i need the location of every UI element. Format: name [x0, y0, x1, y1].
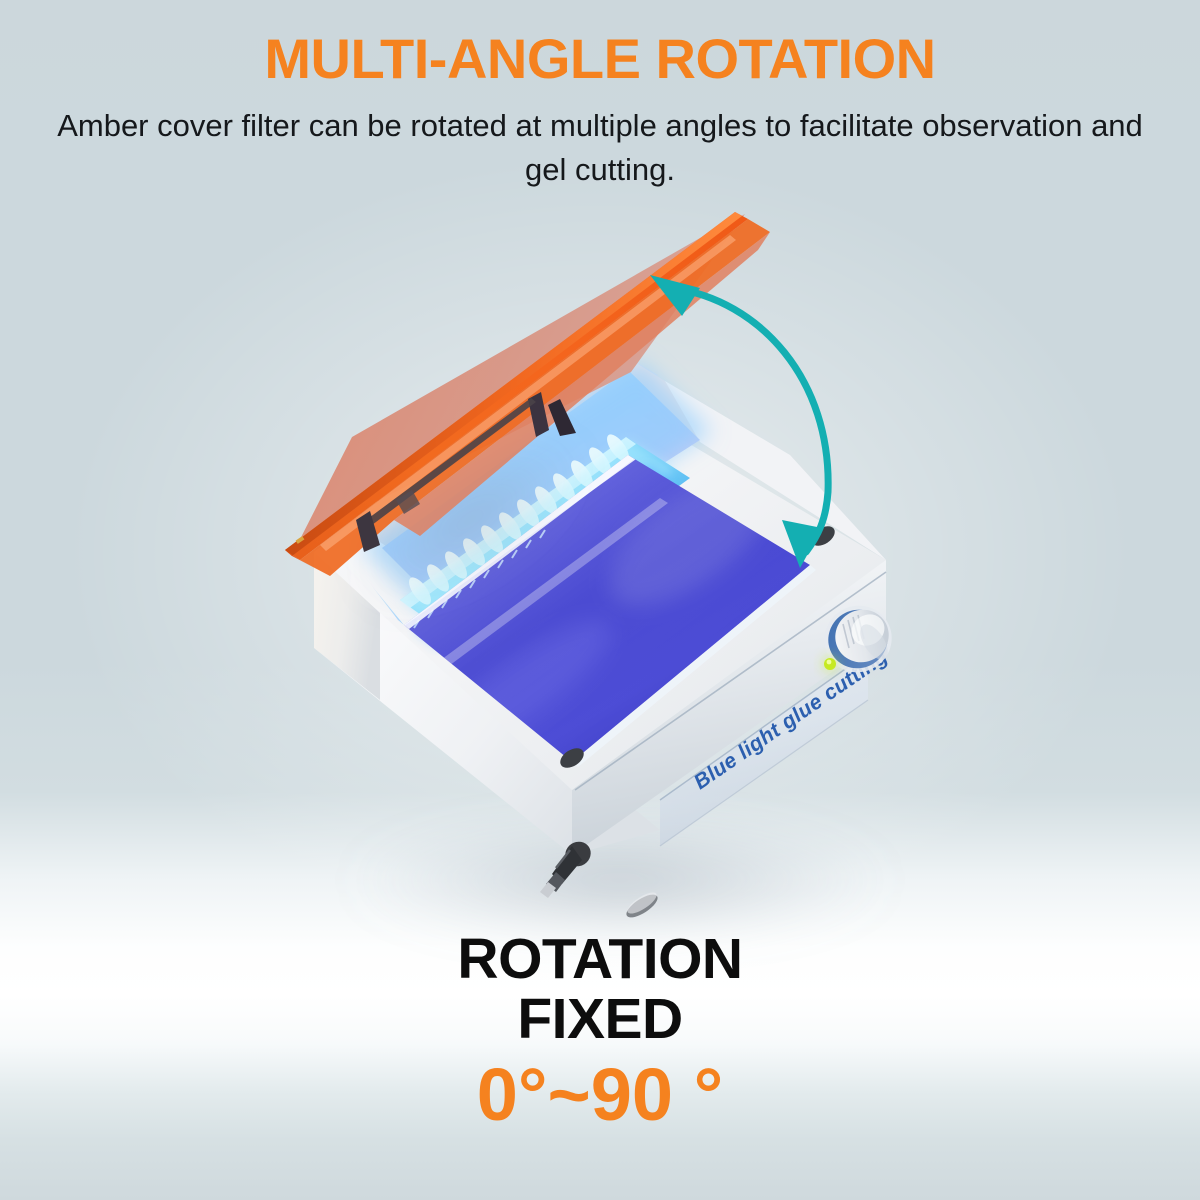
intensity-control-knob — [812, 593, 905, 685]
amber-cover-filter — [285, 212, 770, 576]
product-feature-graphic: Blue light glue cutting — [0, 0, 1200, 1200]
lamp-housing-right — [601, 341, 700, 440]
power-indicator-led — [821, 655, 839, 673]
rubber-foot — [623, 890, 661, 921]
lamp-housing-front — [352, 341, 665, 568]
footer-callout: ROTATION FIXED 0°~90 ° — [0, 930, 1200, 1133]
body-stud-left — [557, 744, 588, 772]
cover-pin — [296, 536, 305, 544]
device-label: Blue light glue cutting — [690, 645, 892, 794]
blue-viewing-surface — [392, 440, 826, 784]
body-top-deck — [314, 368, 886, 790]
page-subtitle: Amber cover filter can be rotated at mul… — [40, 104, 1160, 192]
body-rear-right-corner — [665, 381, 886, 560]
lamp-housing-top — [352, 341, 658, 560]
gel-edge-ticks — [414, 530, 545, 628]
body-front-left-face — [314, 600, 660, 855]
page-title: MULTI-ANGLE ROTATION — [0, 30, 1200, 89]
footer-line-1: ROTATION — [0, 930, 1200, 990]
footer-line-2: FIXED — [0, 990, 1200, 1050]
body-left-face — [314, 552, 380, 700]
body-stud-right — [808, 522, 839, 550]
footer-rotation-range: 0°~90 ° — [0, 1056, 1200, 1134]
device-shadow — [350, 820, 890, 940]
front-panel — [575, 572, 886, 846]
power-connector — [540, 837, 595, 898]
cover-hinge — [356, 392, 576, 552]
inner-wall-left — [352, 560, 404, 625]
body-front-right-face — [572, 560, 886, 855]
inner-wall-rear — [382, 370, 700, 606]
led-lamp-strip — [400, 431, 690, 648]
rotation-double-arrow — [650, 275, 828, 568]
